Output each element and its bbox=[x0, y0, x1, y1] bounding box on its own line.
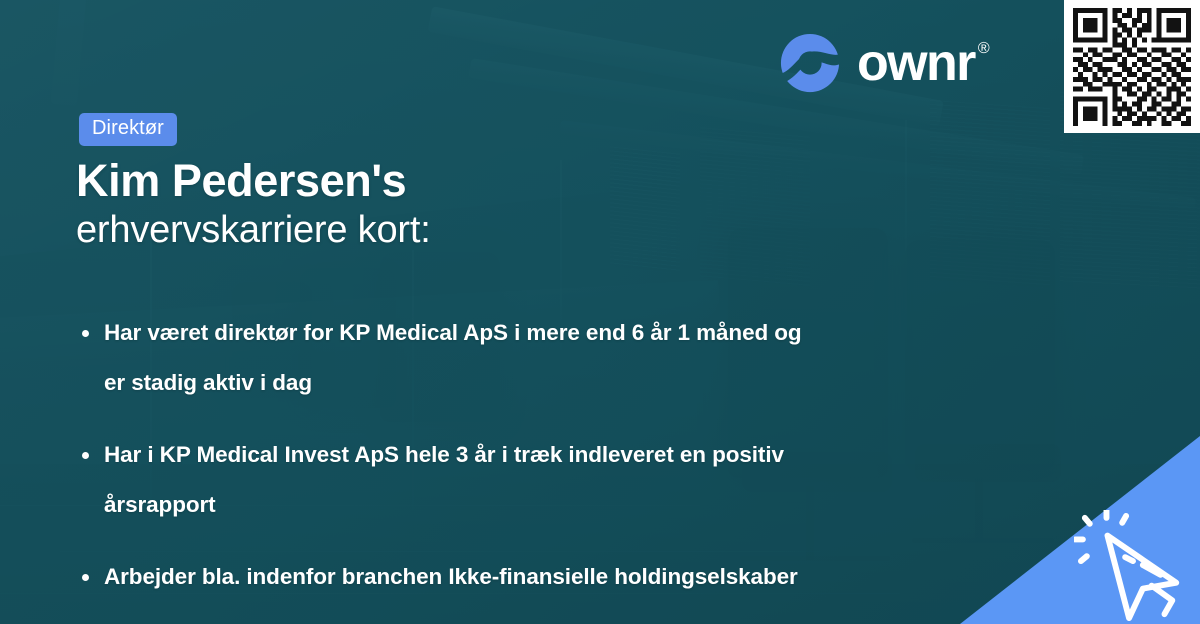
qr-code bbox=[1073, 8, 1191, 126]
page-title: Kim Pedersen's bbox=[76, 156, 406, 206]
page-subtitle: erhvervskarriere kort: bbox=[76, 208, 431, 253]
ownr-circle-swoosh-icon bbox=[779, 32, 841, 94]
career-card: ownr ® Direktør Kim Pedersen's erhvervsk… bbox=[0, 0, 1200, 624]
qr-code-panel[interactable] bbox=[1064, 0, 1200, 133]
ownr-wordmark-text: ownr bbox=[857, 37, 975, 89]
click-cursor-icon bbox=[1074, 510, 1192, 622]
role-badge: Direktør bbox=[79, 113, 177, 146]
blue-corner-decoration bbox=[960, 436, 1200, 624]
list-item: Har været direktør for KP Medical ApS i … bbox=[78, 308, 818, 408]
registered-trademark-icon: ® bbox=[978, 41, 990, 57]
list-item: Arbejder bla. indenfor branchen Ikke-fin… bbox=[78, 552, 998, 602]
ownr-wordmark: ownr ® bbox=[857, 37, 990, 89]
list-item: Har i KP Medical Invest ApS hele 3 år i … bbox=[78, 430, 818, 530]
career-highlights-list: Har været direktør for KP Medical ApS i … bbox=[78, 308, 998, 602]
ownr-logo[interactable]: ownr ® bbox=[779, 32, 990, 94]
